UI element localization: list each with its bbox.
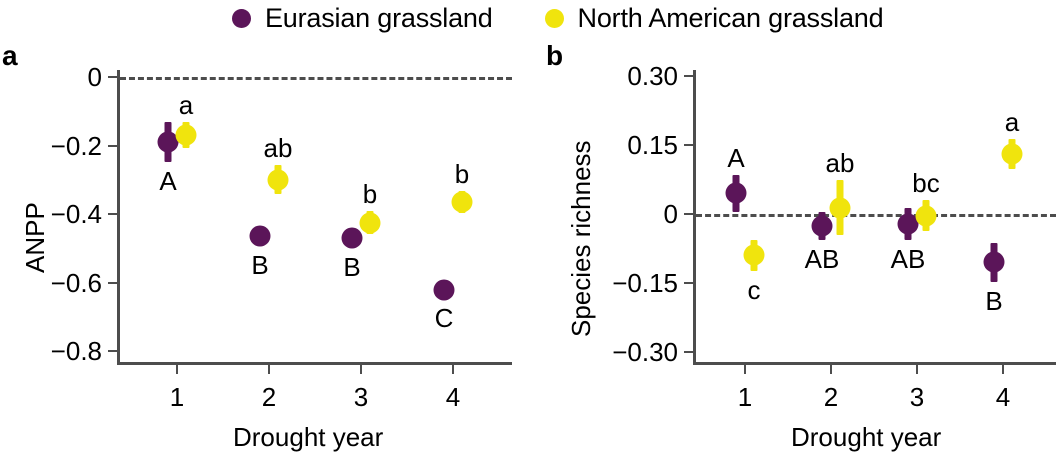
x-axis-tick-label: 4 bbox=[446, 384, 460, 410]
y-axis-tick bbox=[684, 351, 693, 353]
data-point bbox=[360, 212, 381, 233]
data-point bbox=[452, 192, 473, 213]
y-axis-tick-label: −0.6 bbox=[0, 270, 102, 296]
x-axis-tick-label: 1 bbox=[738, 384, 752, 410]
data-point bbox=[984, 252, 1005, 273]
data-point bbox=[268, 169, 289, 190]
x-axis-tick bbox=[452, 365, 454, 374]
y-axis-tick bbox=[108, 350, 117, 352]
x-axis-tick-label: 1 bbox=[170, 384, 184, 410]
x-axis-tick bbox=[744, 365, 746, 374]
data-point bbox=[1002, 144, 1023, 165]
significance-letter-label: B bbox=[343, 254, 360, 280]
significance-letter-label: a bbox=[179, 92, 193, 118]
y-axis-tick bbox=[684, 213, 693, 215]
x-axis-tick-label: 4 bbox=[996, 384, 1010, 410]
significance-letter-label: A bbox=[727, 145, 744, 171]
x-axis-tick-label: 3 bbox=[354, 384, 368, 410]
y-axis-tick-label: 0.30 bbox=[540, 63, 678, 89]
data-point bbox=[830, 197, 851, 218]
significance-letter-label: A bbox=[159, 168, 176, 194]
data-point bbox=[434, 280, 455, 301]
x-axis-tick bbox=[268, 365, 270, 374]
significance-letter-label: B bbox=[985, 288, 1002, 314]
y-axis-tick-label: −0.8 bbox=[0, 338, 102, 364]
plot-area-panel-b: 0.300.150−0.15−0.301234AABABBcabbca bbox=[540, 0, 1056, 463]
y-axis-tick bbox=[108, 145, 117, 147]
y-axis-tick bbox=[684, 75, 693, 77]
significance-letter-label: AB bbox=[891, 246, 926, 272]
significance-letter-label: C bbox=[435, 305, 454, 331]
zero-reference-line bbox=[696, 214, 1056, 217]
x-axis-tick bbox=[916, 365, 918, 374]
y-axis-tick-label: −0.15 bbox=[540, 270, 678, 296]
y-axis-tick bbox=[108, 282, 117, 284]
y-axis-tick-label: −0.2 bbox=[0, 133, 102, 159]
data-point bbox=[176, 124, 197, 145]
y-axis-tick-label: −0.4 bbox=[0, 201, 102, 227]
figure-root: Eurasian grassland North American grassl… bbox=[0, 0, 1056, 463]
data-point bbox=[812, 215, 833, 236]
data-point bbox=[342, 227, 363, 248]
y-axis-tick bbox=[108, 76, 117, 78]
data-point bbox=[744, 245, 765, 266]
significance-letter-label: ab bbox=[264, 135, 293, 161]
x-axis-tick-label: 2 bbox=[262, 384, 276, 410]
data-point bbox=[916, 205, 937, 226]
x-axis-tick bbox=[360, 365, 362, 374]
x-axis-tick bbox=[1002, 365, 1004, 374]
x-axis-tick bbox=[830, 365, 832, 374]
x-axis-tick bbox=[176, 365, 178, 374]
y-axis-tick bbox=[684, 144, 693, 146]
y-axis-spine bbox=[117, 70, 120, 362]
y-axis-tick-label: 0 bbox=[540, 201, 678, 227]
x-axis-tick-label: 2 bbox=[824, 384, 838, 410]
significance-letter-label: a bbox=[1005, 109, 1019, 135]
significance-letter-label: AB bbox=[805, 246, 840, 272]
zero-reference-line bbox=[120, 77, 512, 80]
significance-letter-label: b bbox=[455, 161, 469, 187]
y-axis-tick bbox=[108, 213, 117, 215]
significance-letter-label: ab bbox=[826, 150, 855, 176]
significance-letter-label: B bbox=[251, 252, 268, 278]
x-axis-tick-label: 3 bbox=[910, 384, 924, 410]
significance-letter-label: b bbox=[363, 181, 377, 207]
data-point bbox=[726, 183, 747, 204]
y-axis-tick-label: 0.15 bbox=[540, 132, 678, 158]
plot-area-panel-a: 0−0.2−0.4−0.6−0.81234ABBCaabbb bbox=[0, 0, 540, 463]
y-axis-tick-label: 0 bbox=[0, 64, 102, 90]
significance-letter-label: bc bbox=[912, 170, 939, 196]
data-point bbox=[250, 226, 271, 247]
y-axis-tick bbox=[684, 282, 693, 284]
significance-letter-label: c bbox=[748, 277, 761, 303]
y-axis-tick-label: −0.30 bbox=[540, 339, 678, 365]
